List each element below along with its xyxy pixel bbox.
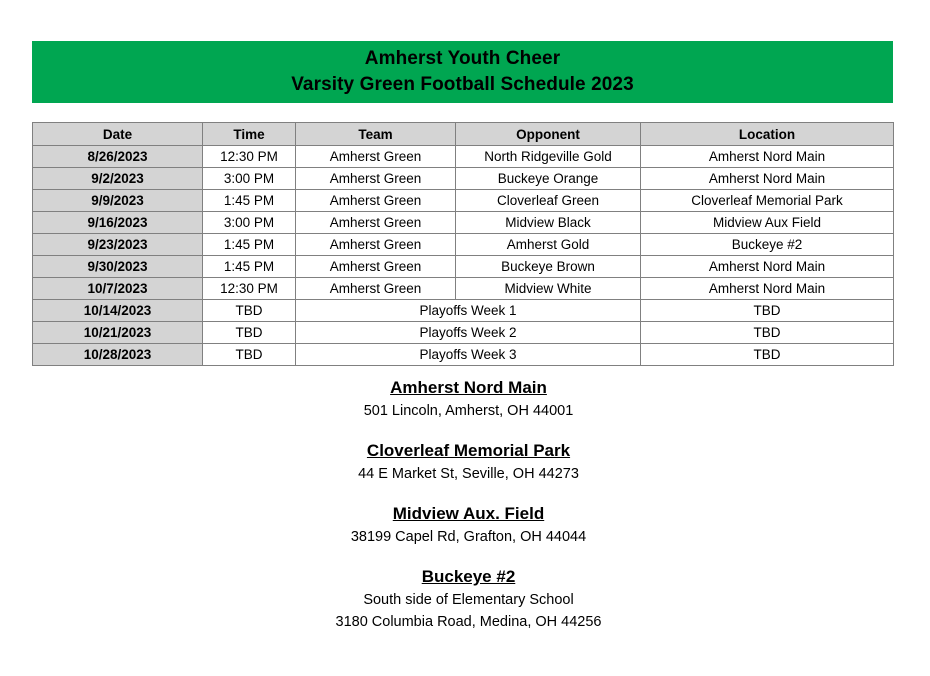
table-header-row: Date Time Team Opponent Location — [33, 123, 894, 146]
table-row: 10/21/2023TBDPlayoffs Week 2TBD — [33, 322, 894, 344]
column-header-opponent: Opponent — [456, 123, 641, 146]
banner-title-line-2: Varsity Green Football Schedule 2023 — [291, 72, 634, 98]
table-row: 9/23/20231:45 PMAmherst GreenAmherst Gol… — [33, 234, 894, 256]
table-row: 8/26/202312:30 PMAmherst GreenNorth Ridg… — [33, 146, 894, 168]
venue-name: Cloverleaf Memorial Park — [7, 439, 930, 463]
cell-date: 9/30/2023 — [33, 256, 203, 278]
cell-location: Midview Aux Field — [641, 212, 894, 234]
cell-location: Amherst Nord Main — [641, 278, 894, 300]
schedule-page: Amherst Youth Cheer Varsity Green Footba… — [0, 0, 930, 676]
title-banner: Amherst Youth Cheer Varsity Green Footba… — [32, 41, 893, 103]
column-header-location: Location — [641, 123, 894, 146]
schedule-table-container: Date Time Team Opponent Location 8/26/20… — [32, 122, 893, 366]
cell-location: TBD — [641, 344, 894, 366]
cell-team: Amherst Green — [296, 234, 456, 256]
cell-opponent: Buckeye Brown — [456, 256, 641, 278]
cell-time: 1:45 PM — [203, 256, 296, 278]
cell-location: TBD — [641, 300, 894, 322]
venue-name: Amherst Nord Main — [7, 376, 930, 400]
cell-location: Amherst Nord Main — [641, 146, 894, 168]
table-row: 9/2/20233:00 PMAmherst GreenBuckeye Oran… — [33, 168, 894, 190]
cell-team: Amherst Green — [296, 146, 456, 168]
cell-time: 1:45 PM — [203, 234, 296, 256]
venue-block: Buckeye #2South side of Elementary Schoo… — [0, 565, 930, 633]
cell-playoff-label: Playoffs Week 1 — [296, 300, 641, 322]
table-row: 9/9/20231:45 PMAmherst GreenCloverleaf G… — [33, 190, 894, 212]
cell-location: Buckeye #2 — [641, 234, 894, 256]
cell-date: 9/9/2023 — [33, 190, 203, 212]
venue-address-line: South side of Elementary School — [7, 589, 930, 611]
venue-block: Amherst Nord Main501 Lincoln, Amherst, O… — [0, 376, 930, 422]
cell-playoff-label: Playoffs Week 3 — [296, 344, 641, 366]
cell-opponent: Buckeye Orange — [456, 168, 641, 190]
cell-date: 8/26/2023 — [33, 146, 203, 168]
cell-team: Amherst Green — [296, 278, 456, 300]
schedule-table-head: Date Time Team Opponent Location — [33, 123, 894, 146]
cell-time: 3:00 PM — [203, 212, 296, 234]
column-header-team: Team — [296, 123, 456, 146]
cell-opponent: Midview Black — [456, 212, 641, 234]
table-row: 10/14/2023TBDPlayoffs Week 1TBD — [33, 300, 894, 322]
cell-time: 12:30 PM — [203, 278, 296, 300]
cell-opponent: Cloverleaf Green — [456, 190, 641, 212]
venue-address-line: 501 Lincoln, Amherst, OH 44001 — [7, 400, 930, 422]
cell-opponent: Midview White — [456, 278, 641, 300]
cell-date: 10/21/2023 — [33, 322, 203, 344]
venue-name: Midview Aux. Field — [7, 502, 930, 526]
cell-time: 12:30 PM — [203, 146, 296, 168]
table-row: 10/28/2023TBDPlayoffs Week 3TBD — [33, 344, 894, 366]
column-header-date: Date — [33, 123, 203, 146]
cell-opponent: Amherst Gold — [456, 234, 641, 256]
table-row: 9/16/20233:00 PMAmherst GreenMidview Bla… — [33, 212, 894, 234]
venue-address-line: 44 E Market St, Seville, OH 44273 — [7, 463, 930, 485]
venue-name: Buckeye #2 — [7, 565, 930, 589]
cell-time: TBD — [203, 300, 296, 322]
schedule-table: Date Time Team Opponent Location 8/26/20… — [32, 122, 894, 366]
cell-time: TBD — [203, 322, 296, 344]
cell-location: Amherst Nord Main — [641, 168, 894, 190]
venue-address-list: Amherst Nord Main501 Lincoln, Amherst, O… — [0, 376, 930, 633]
cell-team: Amherst Green — [296, 256, 456, 278]
cell-date: 10/7/2023 — [33, 278, 203, 300]
cell-team: Amherst Green — [296, 190, 456, 212]
cell-playoff-label: Playoffs Week 2 — [296, 322, 641, 344]
cell-location: Cloverleaf Memorial Park — [641, 190, 894, 212]
cell-date: 9/16/2023 — [33, 212, 203, 234]
cell-time: 3:00 PM — [203, 168, 296, 190]
cell-date: 9/23/2023 — [33, 234, 203, 256]
cell-time: 1:45 PM — [203, 190, 296, 212]
cell-opponent: North Ridgeville Gold — [456, 146, 641, 168]
cell-location: Amherst Nord Main — [641, 256, 894, 278]
cell-date: 9/2/2023 — [33, 168, 203, 190]
venue-block: Midview Aux. Field38199 Capel Rd, Grafto… — [0, 502, 930, 548]
table-row: 10/7/202312:30 PMAmherst GreenMidview Wh… — [33, 278, 894, 300]
cell-date: 10/28/2023 — [33, 344, 203, 366]
column-header-time: Time — [203, 123, 296, 146]
venue-address-line: 38199 Capel Rd, Grafton, OH 44044 — [7, 526, 930, 548]
table-row: 9/30/20231:45 PMAmherst GreenBuckeye Bro… — [33, 256, 894, 278]
cell-location: TBD — [641, 322, 894, 344]
cell-date: 10/14/2023 — [33, 300, 203, 322]
cell-team: Amherst Green — [296, 212, 456, 234]
cell-time: TBD — [203, 344, 296, 366]
venue-block: Cloverleaf Memorial Park44 E Market St, … — [0, 439, 930, 485]
cell-team: Amherst Green — [296, 168, 456, 190]
banner-title-line-1: Amherst Youth Cheer — [365, 46, 560, 72]
schedule-table-body: 8/26/202312:30 PMAmherst GreenNorth Ridg… — [33, 146, 894, 366]
venue-address-line: 3180 Columbia Road, Medina, OH 44256 — [7, 611, 930, 633]
